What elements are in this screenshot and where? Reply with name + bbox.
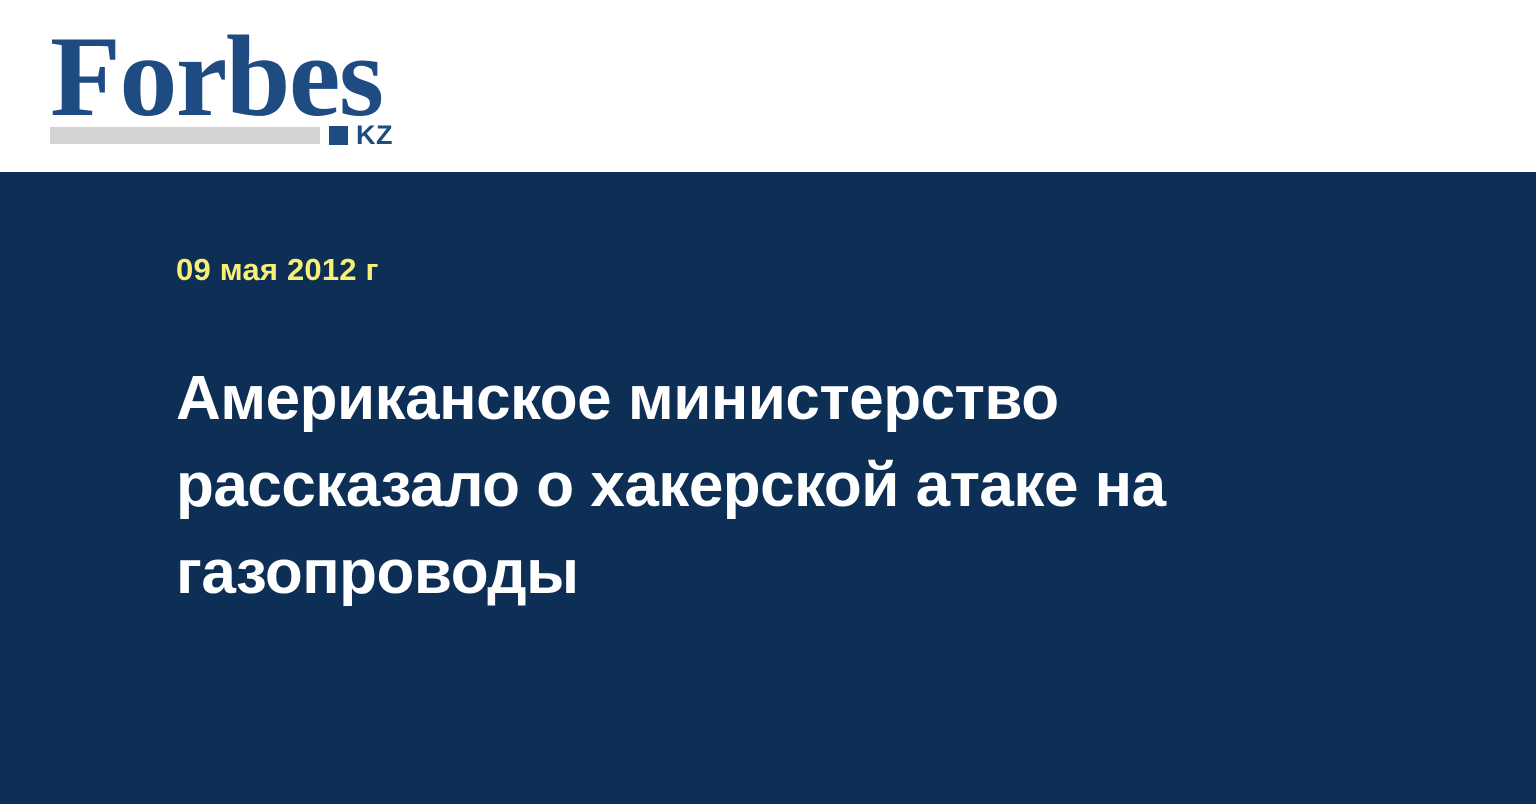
logo-underline-row: kz [50, 122, 410, 148]
logo-gray-bar [50, 127, 320, 144]
logo-domain-suffix: kz [356, 126, 393, 145]
blue-square-icon [329, 126, 348, 145]
logo-wordmark: Forbes [50, 24, 410, 131]
article-card-page: Forbes kz 09 мая 2012 г Американское мин… [0, 0, 1536, 804]
site-header: Forbes kz [0, 0, 1536, 172]
article-title: Американское министерство рассказало о х… [176, 355, 1376, 616]
forbes-kz-logo[interactable]: Forbes kz [50, 24, 410, 148]
article-date: 09 мая 2012 г [176, 251, 379, 289]
article-hero: 09 мая 2012 г Американское министерство … [0, 172, 1536, 804]
